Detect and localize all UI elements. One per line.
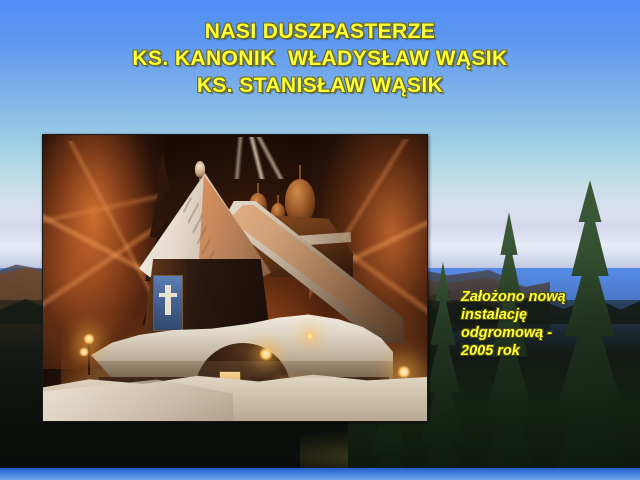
photo-caption: Założono nową instalację odgromową - 200… [461,288,633,360]
title-line-3: KS. STANISŁAW WĄSIK [0,72,640,99]
caption-line-2: instalację [461,306,633,324]
title-line-1: NASI DUSZPASTERZE [0,18,640,45]
street-lamp [397,365,411,379]
bottom-blue-band [0,468,640,480]
crucifix-crossbar [159,293,177,297]
slide-title: NASI DUSZPASTERZE KS. KANONIK WŁADYSŁAW … [0,18,640,99]
caption-line-4: 2005 rok [461,342,633,360]
street-lamp [83,333,95,345]
church-photo [42,134,428,422]
lamp-post [88,341,90,375]
street-lamp [305,331,315,341]
title-line-2: KS. KANONIK WŁADYSŁAW WĄSIK [0,45,640,72]
presentation-slide: NASI DUSZPASTERZE KS. KANONIK WŁADYSŁAW … [0,0,640,480]
wooden-church [43,135,428,422]
caption-line-1: Założono nową [461,288,633,306]
porch-lamp [259,347,273,361]
crucifix [165,285,171,315]
tower-finial [195,161,205,177]
street-lamp [79,347,89,357]
caption-line-3: odgromową - [461,324,633,342]
